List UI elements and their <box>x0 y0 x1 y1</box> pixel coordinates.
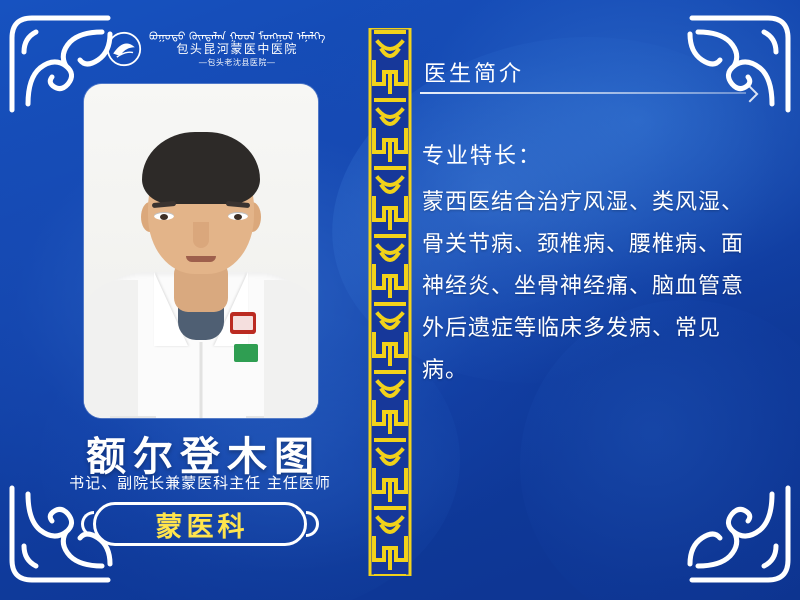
corner-scroll-ornament-icon-top-right <box>674 8 794 116</box>
hospital-name-chinese: 包头昆河蒙医中医院 <box>176 43 298 57</box>
section-title: 医生简介 <box>424 56 524 88</box>
mongolian-pattern-divider-icon <box>368 28 412 576</box>
name-badge-red-icon <box>230 312 256 334</box>
doctor-photo <box>84 84 318 418</box>
name-badge-green-icon <box>234 344 258 362</box>
specialty-text: 蒙西医结合治疗风湿、类风湿、骨关节病、颈椎病、腰椎病、面神经炎、坐骨神经痛、脑血… <box>422 182 762 392</box>
hospital-name-sub: —包头老沈县医院— <box>199 58 276 67</box>
department-label: 蒙医科 <box>93 502 307 546</box>
hospital-emblem-icon <box>106 31 142 67</box>
doctor-titles: 书记、副院长兼蒙医科主任 主任医师 <box>0 472 400 493</box>
corner-scroll-ornament-icon-bottom-right <box>674 482 794 590</box>
title-divider-rule <box>420 92 746 94</box>
specialty-label: 专业特长： <box>422 138 542 170</box>
hospital-logo: ᠪᠤᠭᠤᠲᠤ ᠬᠦᠨᠳᠡᠯᠡᠨ ᠭᠣᠣᠯ ᠮᠣᠩᠭᠣᠯ ᠡᠮᠨᠡᠯᠭᠡ 包头昆河… <box>106 22 306 76</box>
doctor-portrait <box>84 84 318 418</box>
department-badge: 蒙医科 <box>93 502 307 546</box>
doctor-profile-poster: ᠪᠤᠭᠤᠲᠤ ᠬᠦᠨᠳᠡᠯᠡᠨ ᠭᠣᠣᠯ ᠮᠣᠩᠭᠣᠯ ᠡᠮᠨᠡᠯᠭᠡ 包头昆河… <box>0 0 800 600</box>
